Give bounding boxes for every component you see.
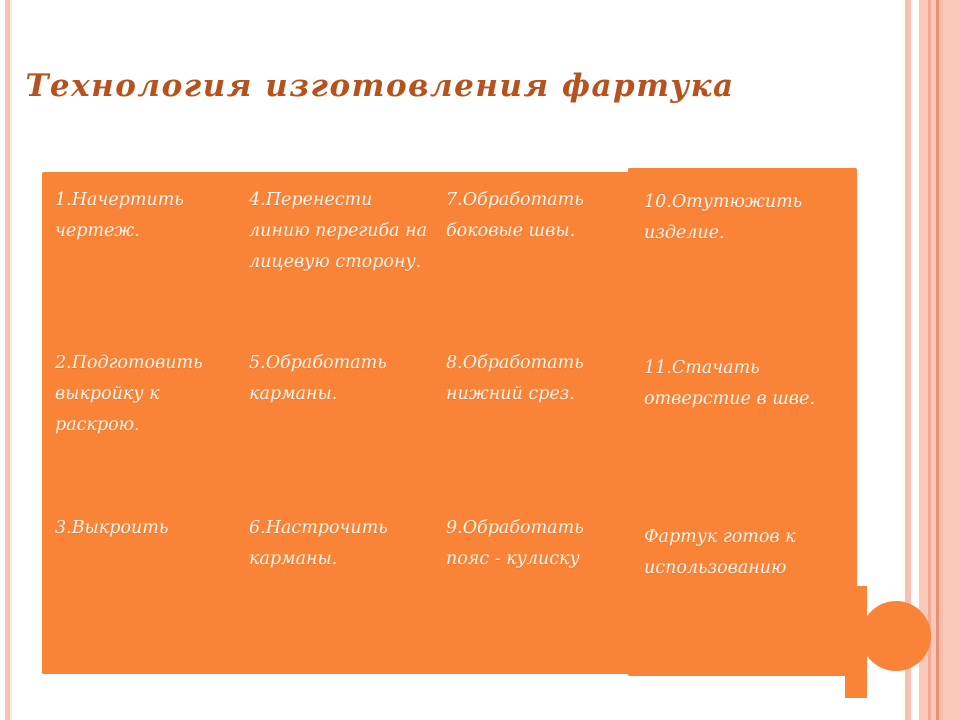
table-cell-step-5: 5.Обработать карманы. xyxy=(249,348,431,410)
left-decorative-stripe xyxy=(5,0,13,720)
table-cell-step-9: 9.Обработать пояс - кулиску xyxy=(446,513,628,575)
table-cell-step-10: 10.Отутюжить изделие. xyxy=(644,187,844,249)
slide-canvas: Технология изготовления фартука 1.Начерт… xyxy=(0,0,960,720)
table-cell-step-8: 8.Обработать нижний срез. xyxy=(446,348,628,410)
right-stripe-10 xyxy=(943,0,960,720)
table-cell-step-2: 2.Подготовить выкройку к раскрою. xyxy=(55,348,235,441)
table-cell-step-7: 7.Обработать боковые швы. xyxy=(446,185,628,247)
table-cell-step-4: 4.Перенести линию перегиба на лицевую ст… xyxy=(249,185,431,278)
orange-circle-decoration xyxy=(861,601,931,671)
table-cell-step-1: 1.Начертить чертеж. xyxy=(55,185,235,247)
table-cell-conclusion: Фартук готов к использованию xyxy=(644,522,844,584)
left-stripe-cream xyxy=(10,0,12,720)
table-cell-step-6: 6.Настрочить карманы. xyxy=(249,513,431,575)
table-cell-step-11: 11.Стачать отверстие в шве. xyxy=(644,353,844,415)
slide-title: Технология изготовления фартука xyxy=(0,68,760,104)
table-cell-step-3: 3.Выкроить xyxy=(55,513,235,544)
steps-table: 1.Начертить чертеж. 4.Перенести линию пе… xyxy=(42,172,857,674)
